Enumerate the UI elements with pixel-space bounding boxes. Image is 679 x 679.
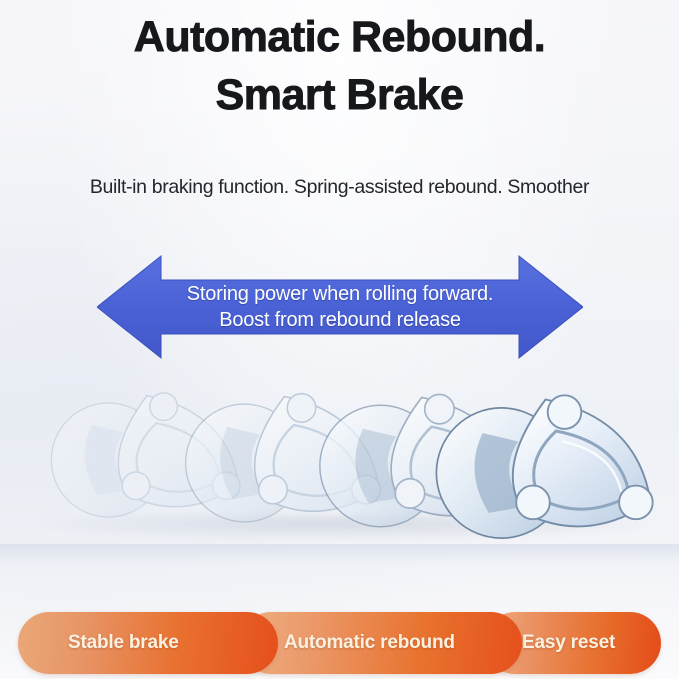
feature-pill-label: Automatic rebound bbox=[284, 632, 455, 654]
subtitle-text: Built-in braking function. Spring-assist… bbox=[0, 176, 679, 199]
caster-wheel-hub-icon bbox=[428, 368, 670, 552]
feature-pill-stable-brake[interactable]: Stable brake bbox=[18, 612, 278, 674]
headline-block: Automatic Rebound. Smart Brake bbox=[0, 16, 679, 118]
feature-pill-label: Easy reset bbox=[522, 632, 615, 654]
headline-line-2: Smart Brake bbox=[0, 74, 679, 118]
feature-pill-automatic-rebound[interactable]: Automatic rebound bbox=[240, 612, 522, 674]
arrow-banner: Storing power when rolling forward. Boos… bbox=[97, 252, 583, 362]
feature-pill-bar: Stable brake Automatic rebound Easy rese… bbox=[18, 612, 661, 674]
product-feature-poster: Automatic Rebound. Smart Brake Built-in … bbox=[0, 0, 679, 679]
feature-pill-label: Stable brake bbox=[68, 632, 179, 654]
double-headed-arrow-icon bbox=[97, 252, 583, 362]
product-motion-sequence bbox=[0, 368, 679, 568]
product-ghost-frame-4 bbox=[428, 368, 670, 552]
headline-line-1: Automatic Rebound. bbox=[0, 16, 679, 60]
